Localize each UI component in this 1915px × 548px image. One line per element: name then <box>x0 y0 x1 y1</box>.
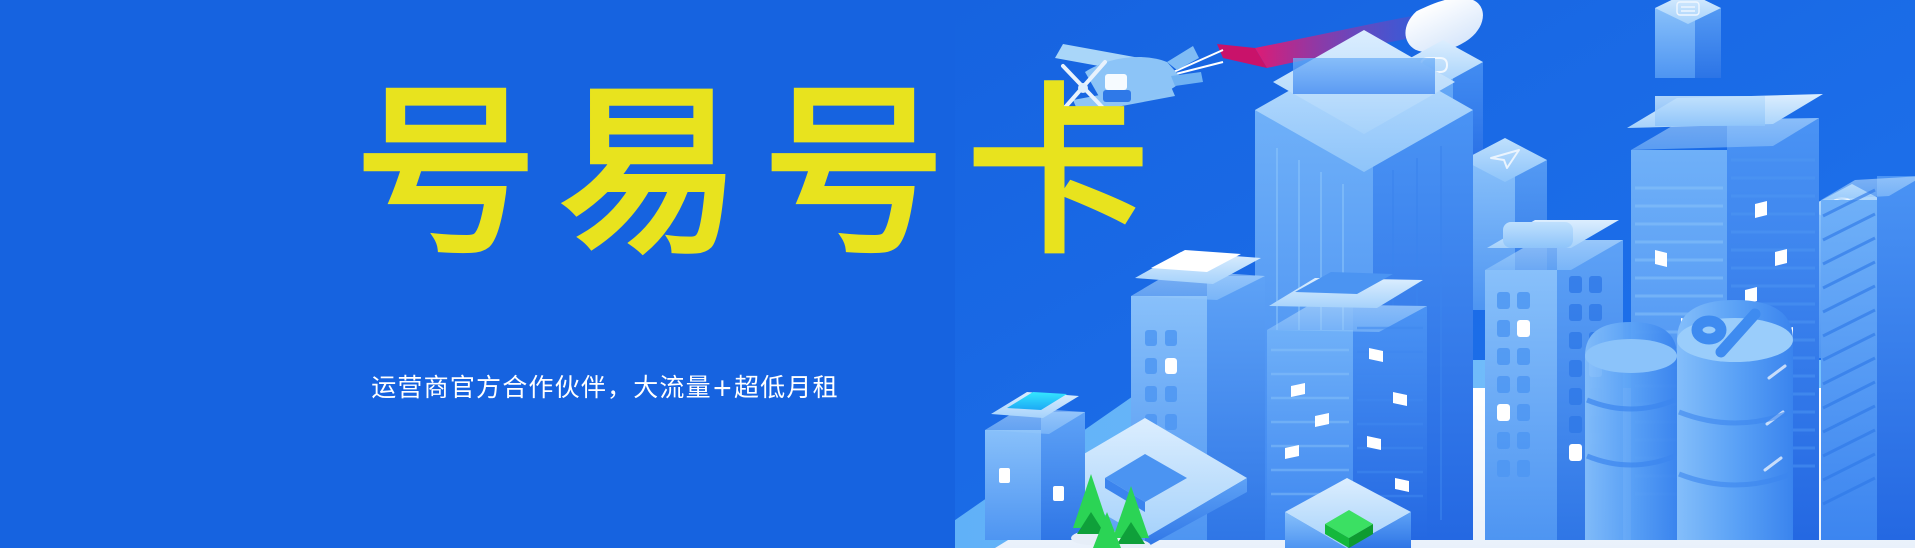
percent-symbol-tower <box>1677 300 1793 540</box>
promo-banner: 号易号卡 运营商官方合作伙伴，大流量+超低月租 <box>0 0 1915 548</box>
skyscraper-hatched-far-right <box>1821 176 1915 540</box>
icon-tower-calculator <box>1655 0 1721 78</box>
building-glow-top <box>985 392 1085 540</box>
percent-cylinder-tower <box>1585 322 1677 540</box>
isometric-city-illustration <box>955 0 1915 548</box>
